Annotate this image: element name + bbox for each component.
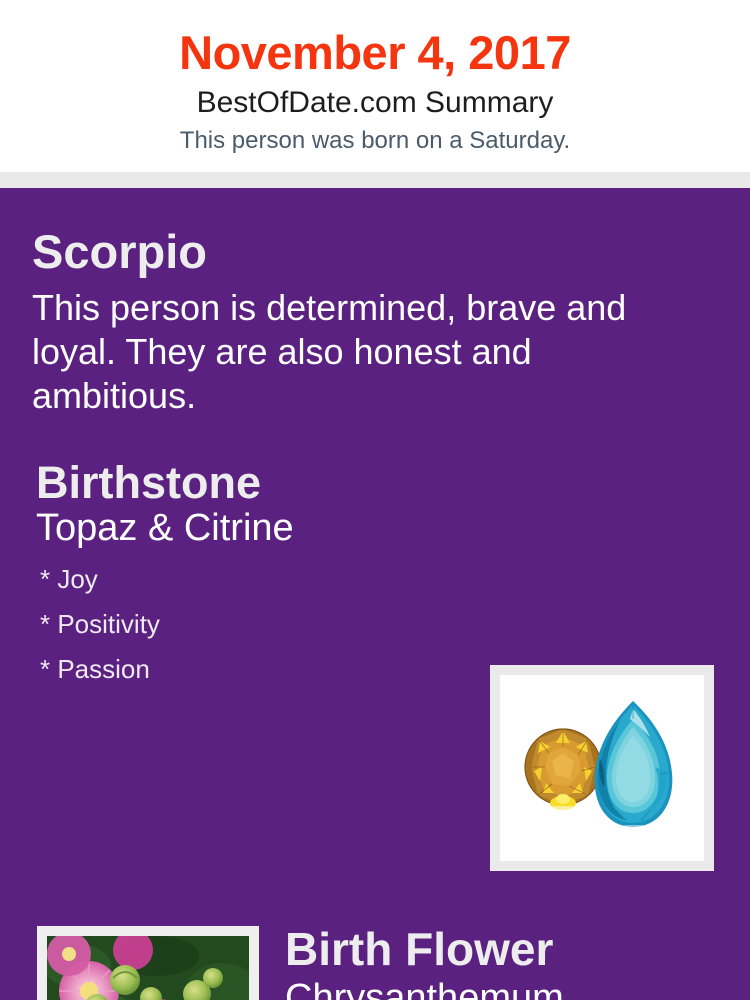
header-divider [0,172,750,188]
list-item: * Passion [36,647,460,692]
birth-flower-section: Birth Flower Chrysanthemum * Loyalty * H… [285,923,725,1000]
birth-flower-image [47,936,249,1000]
list-item: * Positivity [36,602,460,647]
zodiac-description: This person is determined, brave and loy… [32,286,702,418]
list-item: * Joy [36,557,460,602]
birth-flower-image-frame [37,926,259,1000]
card-header: November 4, 2017 BestOfDate.com Summary … [0,0,750,172]
birthstone-image [500,675,704,861]
birthstone-trait-list: * Joy * Positivity * Passion [36,557,460,692]
bud [110,965,140,995]
birthstone-name: Topaz & Citrine [36,506,460,550]
summary-card: November 4, 2017 BestOfDate.com Summary … [0,0,750,1000]
birth-flower-name: Chrysanthemum [285,975,725,1000]
birthstone-heading: Birthstone [36,458,460,508]
chrysanthemum-illustration [47,936,249,1000]
zodiac-section: Scorpio This person is determined, brave… [0,188,750,418]
bud [203,968,223,988]
born-weekday-text: This person was born on a Saturday. [0,124,750,157]
page-title: November 4, 2017 [0,24,750,82]
birthstone-section: Birthstone Topaz & Citrine * Joy * Posit… [0,458,750,692]
birth-flower-heading: Birth Flower [285,923,725,975]
details-panel: Scorpio This person is determined, brave… [0,188,750,1000]
birthstone-image-frame [490,665,714,871]
birthstone-text-group: Birthstone Topaz & Citrine * Joy * Posit… [0,458,460,692]
gemstones-illustration [500,675,704,861]
site-summary-label: BestOfDate.com Summary [0,83,750,123]
zodiac-sign-name: Scorpio [32,226,750,278]
